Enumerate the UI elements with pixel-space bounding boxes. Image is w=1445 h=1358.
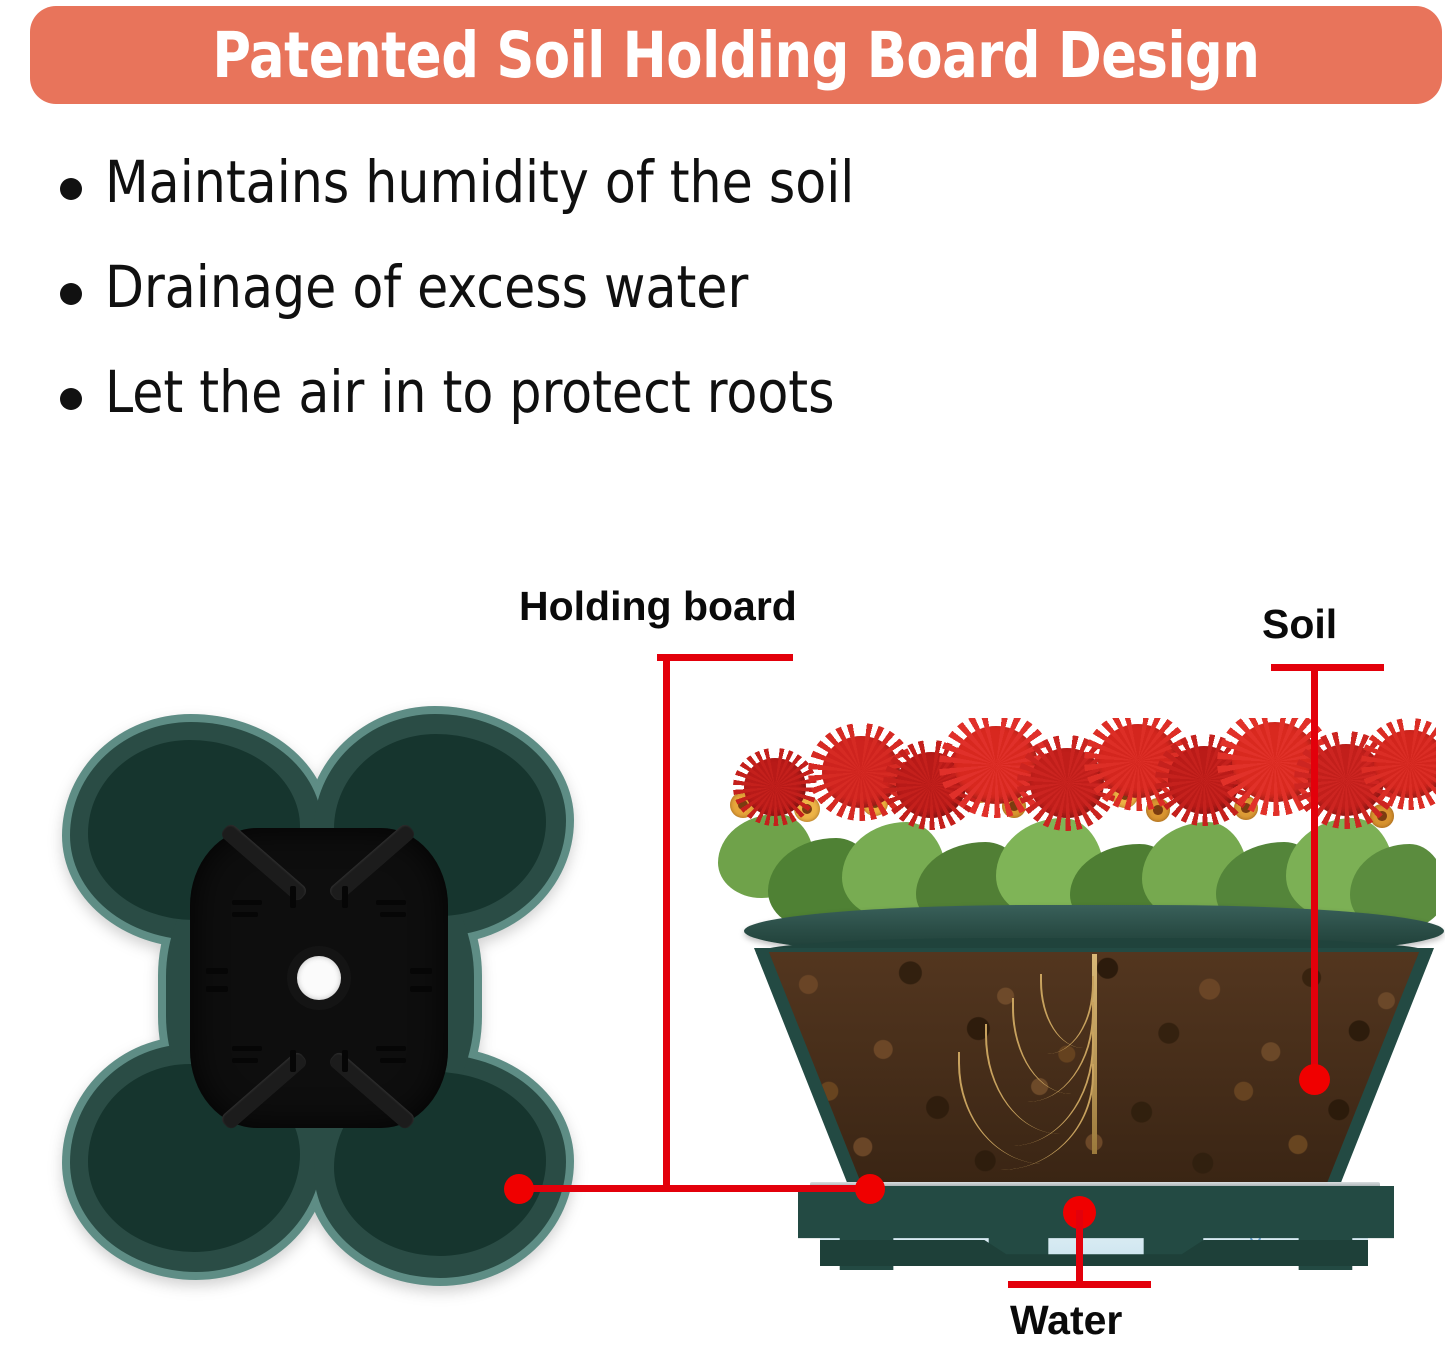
connector-soil-vertical xyxy=(1311,664,1318,1076)
bullet-dot-icon xyxy=(60,178,82,200)
connector-holding-board-vertical xyxy=(663,654,670,1191)
callout-dot-holding-board-right xyxy=(855,1174,885,1204)
callout-label-holding-board: Holding board xyxy=(519,586,797,627)
holding-board-plate xyxy=(190,828,448,1128)
callout-dot-soil xyxy=(1299,1064,1330,1095)
connector-water-tee xyxy=(1008,1281,1151,1288)
callout-dot-holding-board-left xyxy=(504,1174,534,1204)
connector-holding-board-horizontal xyxy=(518,1185,870,1192)
connector-holding-board-tee xyxy=(657,654,793,661)
product-image-holding-board xyxy=(62,706,574,1286)
feature-text: Let the air in to protect roots xyxy=(105,362,834,423)
feature-list: Maintains humidity of the soil Drainage … xyxy=(60,152,1110,467)
drainage-hole xyxy=(297,956,341,1000)
list-item: Let the air in to protect roots xyxy=(60,362,1110,467)
flower-foliage xyxy=(710,718,1436,936)
feature-text: Drainage of excess water xyxy=(105,257,748,318)
page-title: Patented Soil Holding Board Design xyxy=(212,24,1259,87)
bullet-dot-icon xyxy=(60,388,82,410)
list-item: Drainage of excess water xyxy=(60,257,1110,362)
connector-water-vertical xyxy=(1076,1210,1083,1286)
header-banner: Patented Soil Holding Board Design xyxy=(30,6,1442,104)
bullet-dot-icon xyxy=(60,283,82,305)
callout-label-water: Water xyxy=(1010,1300,1122,1341)
callout-label-soil: Soil xyxy=(1262,604,1337,645)
connector-soil-tee xyxy=(1271,664,1384,671)
product-image-cross-section xyxy=(700,700,1445,1280)
soil-layer xyxy=(754,952,1434,1184)
list-item: Maintains humidity of the soil xyxy=(60,152,1110,257)
feature-text: Maintains humidity of the soil xyxy=(105,152,854,213)
